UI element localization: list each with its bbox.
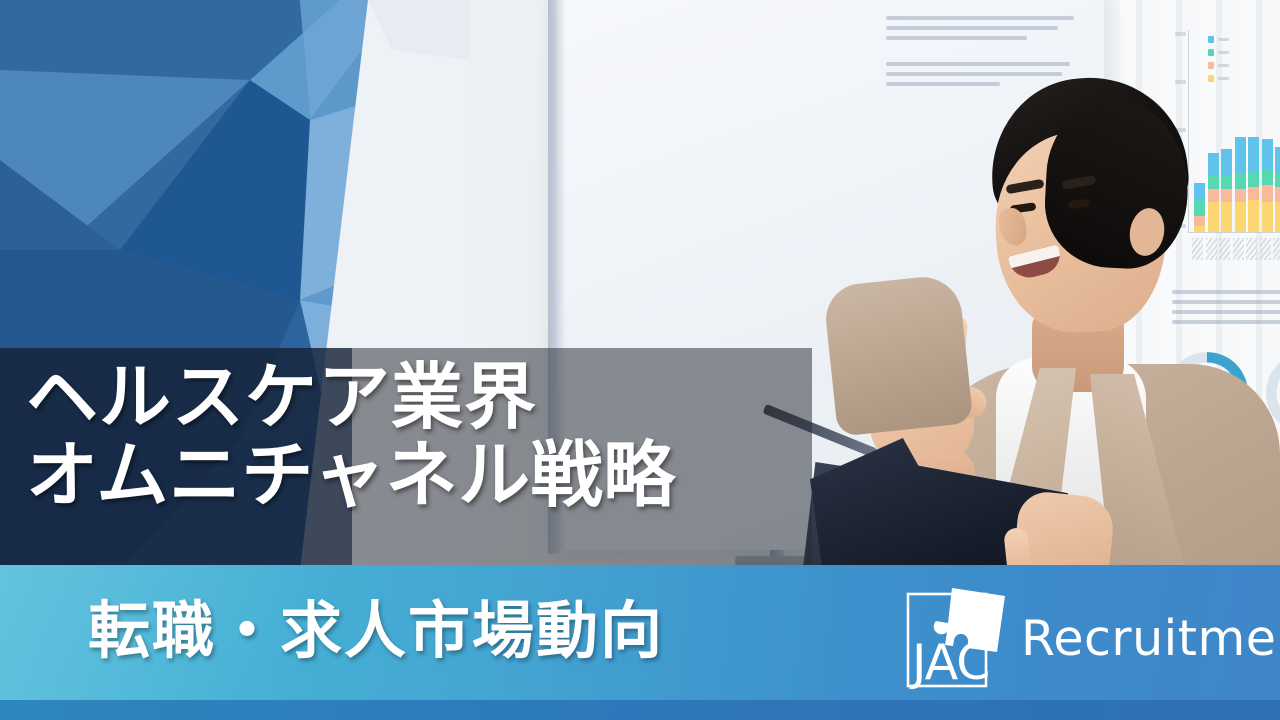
thumbnail-canvas: 70% 60% 60% — [0, 0, 1280, 720]
title-line-2: オムニチャネル戦略 — [26, 436, 826, 514]
page-title: ヘルスケア業界 オムニチャネル戦略 — [26, 358, 826, 514]
band-bottom-strip — [0, 700, 1280, 720]
subtitle: 転職・求人市場動向 — [88, 600, 664, 662]
jac-recruitment-logo: JAC Recruitment — [905, 586, 1275, 696]
jac-logo-text: JAC — [912, 638, 989, 687]
jacket-sleeve — [823, 273, 974, 436]
title-line-1: ヘルスケア業界 — [26, 358, 826, 436]
recruitment-logo-text: Recruitment — [1021, 614, 1280, 663]
